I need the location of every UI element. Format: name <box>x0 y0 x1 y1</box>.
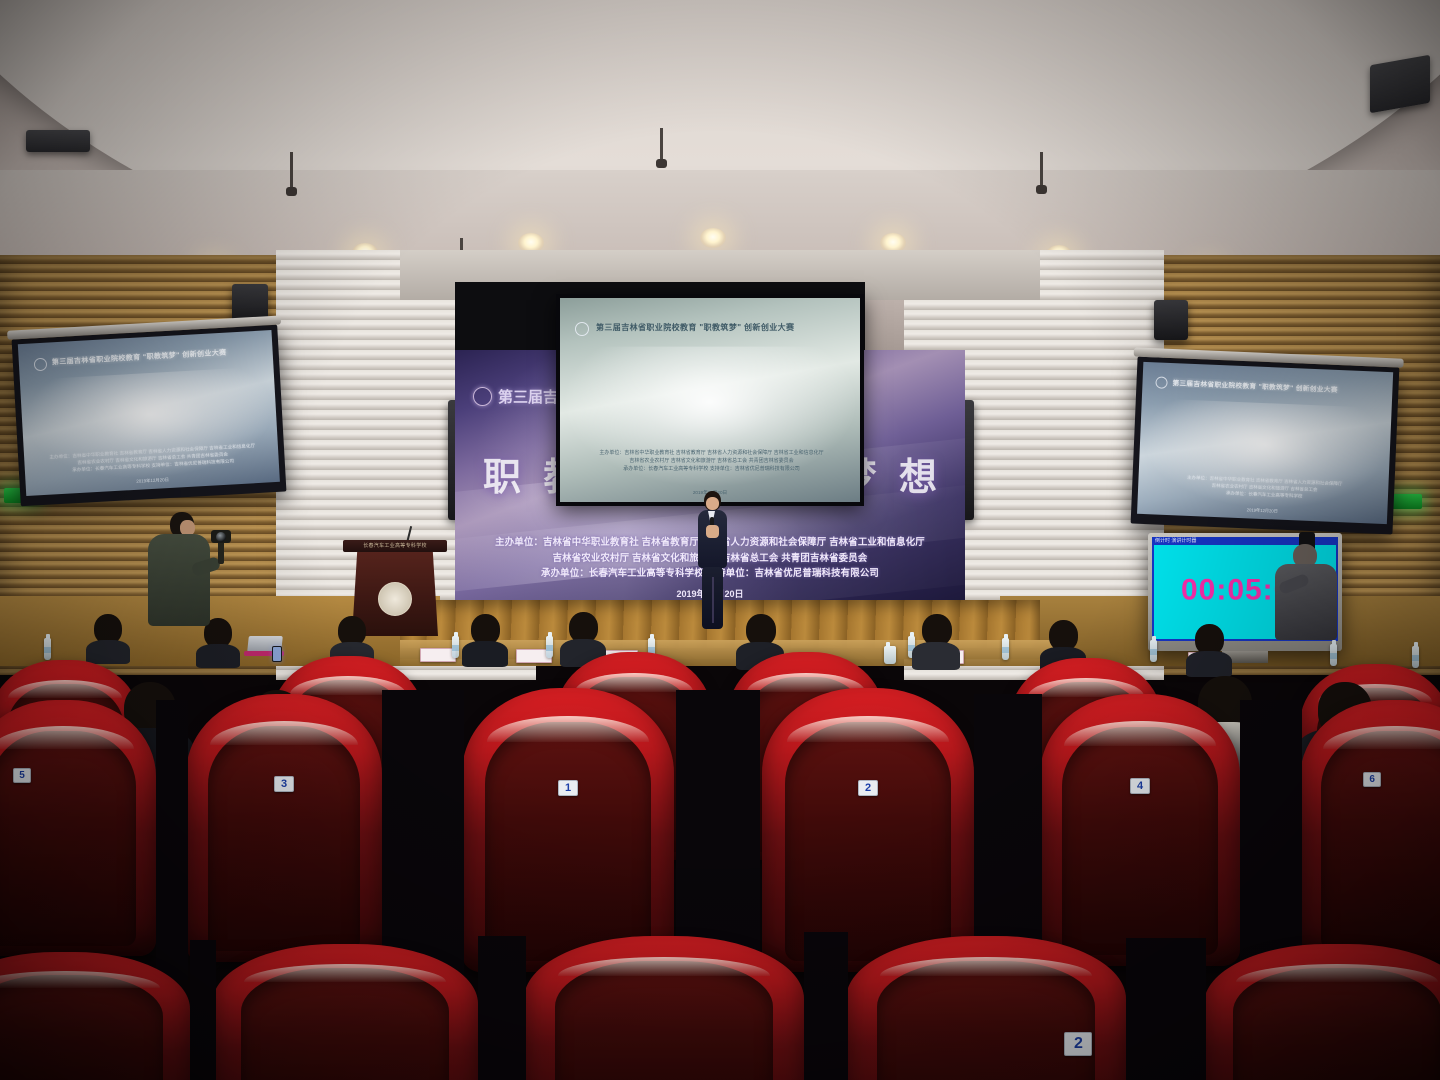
water-bottle <box>1002 638 1009 660</box>
auditorium-seat[interactable]: 2 <box>846 936 1126 1080</box>
auditorium-seat[interactable] <box>524 936 804 1080</box>
seat-cushion <box>0 975 163 1080</box>
seat-number: 2 <box>858 780 878 796</box>
seat-number: 5 <box>13 768 31 783</box>
ceiling-pendant-fixture <box>1040 152 1043 188</box>
videographer-jacket <box>148 534 210 626</box>
auditorium-seat[interactable]: 3 <box>186 694 382 962</box>
seat-number: 2 <box>1064 1032 1092 1056</box>
slide-surface: 第三届吉林省职业院校教育 "职教筑梦" 创新创业大赛 主办单位：吉林省中华职业教… <box>18 330 280 496</box>
videographer-right <box>1271 540 1347 640</box>
aisle-gap <box>804 932 848 1080</box>
seat-cushion <box>485 722 650 961</box>
right-projection-screen: 第三届吉林省职业院校教育 "职教筑梦" 创新创业大赛 主办单位：吉林省中华职业教… <box>1131 357 1400 535</box>
audience-shoulders <box>462 641 508 667</box>
seat-cushion <box>1062 727 1218 955</box>
seat-number: 1 <box>558 780 578 796</box>
slide-body-line: 主办单位：吉林省中华职业教育社 吉林省教育厅 吉林省人力资源和社会保障厅 吉林省… <box>578 450 845 458</box>
audience-shoulders <box>1186 651 1232 677</box>
water-bottle <box>452 636 459 658</box>
auditorium-seat[interactable] <box>212 944 478 1080</box>
slide-surface: 第三届吉林省职业院校教育 "职教筑梦" 创新创业大赛 主办单位：吉林省中华职业教… <box>1137 362 1393 524</box>
seat-cushion <box>1321 731 1440 949</box>
auditorium-scene: 第三届吉林省职业院校教育 "职教筑梦" 创新创业大赛 主办单位：吉林省中华职业教… <box>0 0 1440 1080</box>
audience-member <box>86 614 130 660</box>
ceiling-downlight <box>700 228 726 248</box>
auditorium-seat[interactable] <box>1204 944 1440 1080</box>
center-projection-screen: 第三届吉林省职业院校教育 "职教筑梦" 创新创业大赛 主办单位：吉林省中华职业教… <box>556 294 864 506</box>
seat-cushion <box>208 726 361 951</box>
presenter-on-stage <box>694 491 730 636</box>
aisle-gap <box>1126 938 1206 1080</box>
aisle-gap <box>156 700 188 980</box>
name-placard <box>420 648 456 662</box>
auditorium-seat[interactable]: 5 <box>0 700 156 956</box>
seat-cushion <box>785 722 950 961</box>
auditorium-seat[interactable]: 4 <box>1040 694 1240 966</box>
organizer-emblem-icon <box>473 387 492 406</box>
videographer-left <box>140 512 230 632</box>
slide-body: 主办单位：吉林省中华职业教育社 吉林省教育厅 吉林省人力资源和社会保障厅 吉林省… <box>578 450 845 473</box>
seat-cushion <box>555 961 773 1080</box>
seat-number: 6 <box>1363 772 1381 787</box>
slide-title: 第三届吉林省职业院校教育 "职教筑梦" 创新创业大赛 <box>596 322 848 333</box>
audience-shoulders <box>912 642 960 670</box>
water-bottle <box>44 638 51 660</box>
audience-member <box>462 614 508 662</box>
presenter-hands <box>706 525 719 538</box>
seat-cushion <box>241 968 448 1080</box>
seat-number: 3 <box>274 776 294 792</box>
slide-emblem-icon <box>575 322 589 336</box>
lectern-banner-text: 长春汽车工业高等专科学校 <box>343 542 447 549</box>
seat-number: 4 <box>1130 778 1150 794</box>
slide-title: 第三届吉林省职业院校教育 "职教筑梦" 创新创业大赛 <box>1172 377 1382 396</box>
aisle-gap <box>382 690 464 980</box>
ceiling-pendant-fixture <box>660 128 663 162</box>
wall-speaker-right <box>1154 300 1188 340</box>
slide-body-line: 承办单位：长春汽车工业高等专科学校 支持单位：吉林省优尼普瑞科技有限公司 <box>578 466 845 474</box>
seat-cushion <box>877 961 1095 1080</box>
aisle-gap <box>478 936 526 1080</box>
school-seal-icon <box>378 582 412 616</box>
water-bottle <box>546 636 553 658</box>
ceiling-ac-vent <box>26 130 90 152</box>
aisle-gap <box>190 940 216 1080</box>
slide-emblem-icon <box>34 358 48 372</box>
presenter-leg-gap <box>712 577 714 623</box>
auditorium-seat[interactable]: 2 <box>762 688 974 972</box>
ceiling-pendant-fixture <box>290 152 293 190</box>
auditorium-seat[interactable] <box>0 952 190 1080</box>
audience-member <box>1186 624 1232 672</box>
slide-body-line: 吉林省农业农村厅 吉林省文化和旅游厅 吉林省总工会 共青团吉林省委员会 <box>578 458 845 466</box>
lectern-top: 长春汽车工业高等专科学校 <box>343 540 447 552</box>
thermos-cup <box>884 646 896 664</box>
left-projection-screen: 第三届吉林省职业院校教育 "职教筑梦" 创新创业大赛 主办单位：吉林省中华职业教… <box>12 325 287 507</box>
slide-emblem-icon <box>1155 376 1167 388</box>
audience-member <box>912 614 960 664</box>
presenter-face <box>706 497 719 510</box>
aisle-gap <box>1240 700 1302 980</box>
auditorium-seat[interactable]: 6 <box>1300 700 1440 960</box>
audience-shoulders <box>196 644 240 668</box>
camera-lens-icon <box>216 532 226 542</box>
seat-cushion <box>0 731 136 946</box>
water-bottle <box>1330 644 1337 666</box>
slide-title: 第三届吉林省职业院校教育 "职教筑梦" 创新创业大赛 <box>52 346 263 368</box>
auditorium-seat[interactable]: 1 <box>462 688 674 972</box>
slide-surface: 第三届吉林省职业院校教育 "职教筑梦" 创新创业大赛 主办单位：吉林省中华职业教… <box>560 298 860 502</box>
seat-cushion <box>1233 968 1440 1080</box>
